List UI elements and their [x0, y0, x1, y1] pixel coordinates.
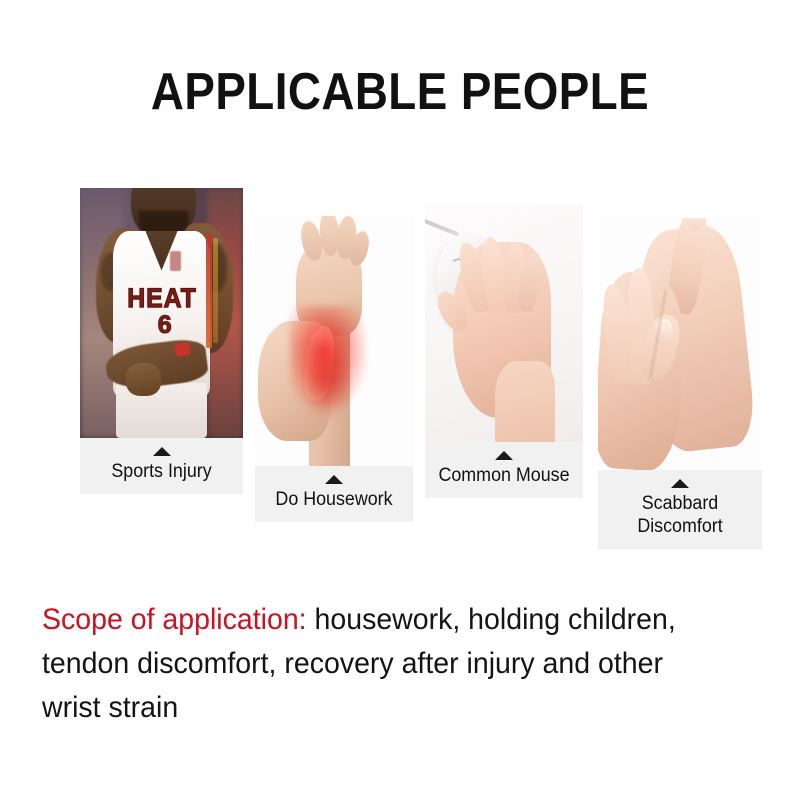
pain-glow-core-icon: [302, 346, 349, 416]
photo-scabbard-discomfort: [598, 218, 762, 470]
triangle-up-icon: [325, 475, 343, 484]
wrist-pain-scene: [255, 216, 413, 466]
scope-line-1: Scope of application: housework, holding…: [42, 598, 736, 642]
panel-label-line2: Discomfort: [607, 515, 754, 538]
scope-of-application-block: Scope of application: housework, holding…: [42, 598, 772, 730]
jersey-wordmark: HEAT: [127, 283, 196, 314]
panel-label: Do Housework: [264, 488, 405, 511]
triangle-up-icon: [153, 447, 171, 456]
panel-scabbard-discomfort: Scabbard Discomfort: [598, 218, 762, 549]
player-wristband: [174, 342, 190, 357]
wrist: [495, 361, 555, 442]
panel-common-mouse: Common Mouse: [425, 204, 583, 498]
photo-common-mouse: [425, 204, 583, 442]
photo-sports-injury: HEAT 6: [80, 188, 243, 438]
triangle-up-icon: [495, 451, 513, 460]
photo-do-housework: [255, 216, 413, 466]
caption-scabbard-discomfort: Scabbard Discomfort: [598, 470, 762, 549]
scope-line-1-rest: housework, holding children,: [307, 603, 676, 636]
basketball-scene: HEAT 6: [80, 188, 243, 438]
caption-common-mouse: Common Mouse: [425, 442, 583, 498]
panel-label-line1: Scabbard: [607, 492, 754, 515]
jersey-trim-gold: [213, 238, 218, 343]
applicable-people-panels: HEAT 6 Sports Injury: [0, 0, 800, 560]
panel-sports-injury: HEAT 6 Sports Injury: [80, 188, 243, 494]
mouse-cord: [425, 218, 459, 237]
jersey-trim-red: [206, 233, 212, 348]
triangle-up-icon: [671, 479, 689, 488]
mouse-scene: [425, 204, 583, 442]
caption-do-housework: Do Housework: [255, 466, 413, 522]
jersey-number: 6: [158, 311, 172, 340]
panel-label: Sports Injury: [89, 460, 235, 483]
panel-do-housework: Do Housework: [255, 216, 413, 522]
caption-sports-injury: Sports Injury: [80, 438, 243, 494]
scope-line-2: tendon discomfort, recovery after injury…: [42, 642, 736, 686]
scope-emphasis: Scope of application:: [42, 603, 307, 636]
scope-line-3: wrist strain: [42, 686, 736, 730]
player-hand: [126, 363, 162, 396]
thumb-massage-scene: [598, 218, 762, 470]
panel-label: Common Mouse: [434, 464, 575, 487]
jersey-league-logo: [170, 251, 181, 271]
